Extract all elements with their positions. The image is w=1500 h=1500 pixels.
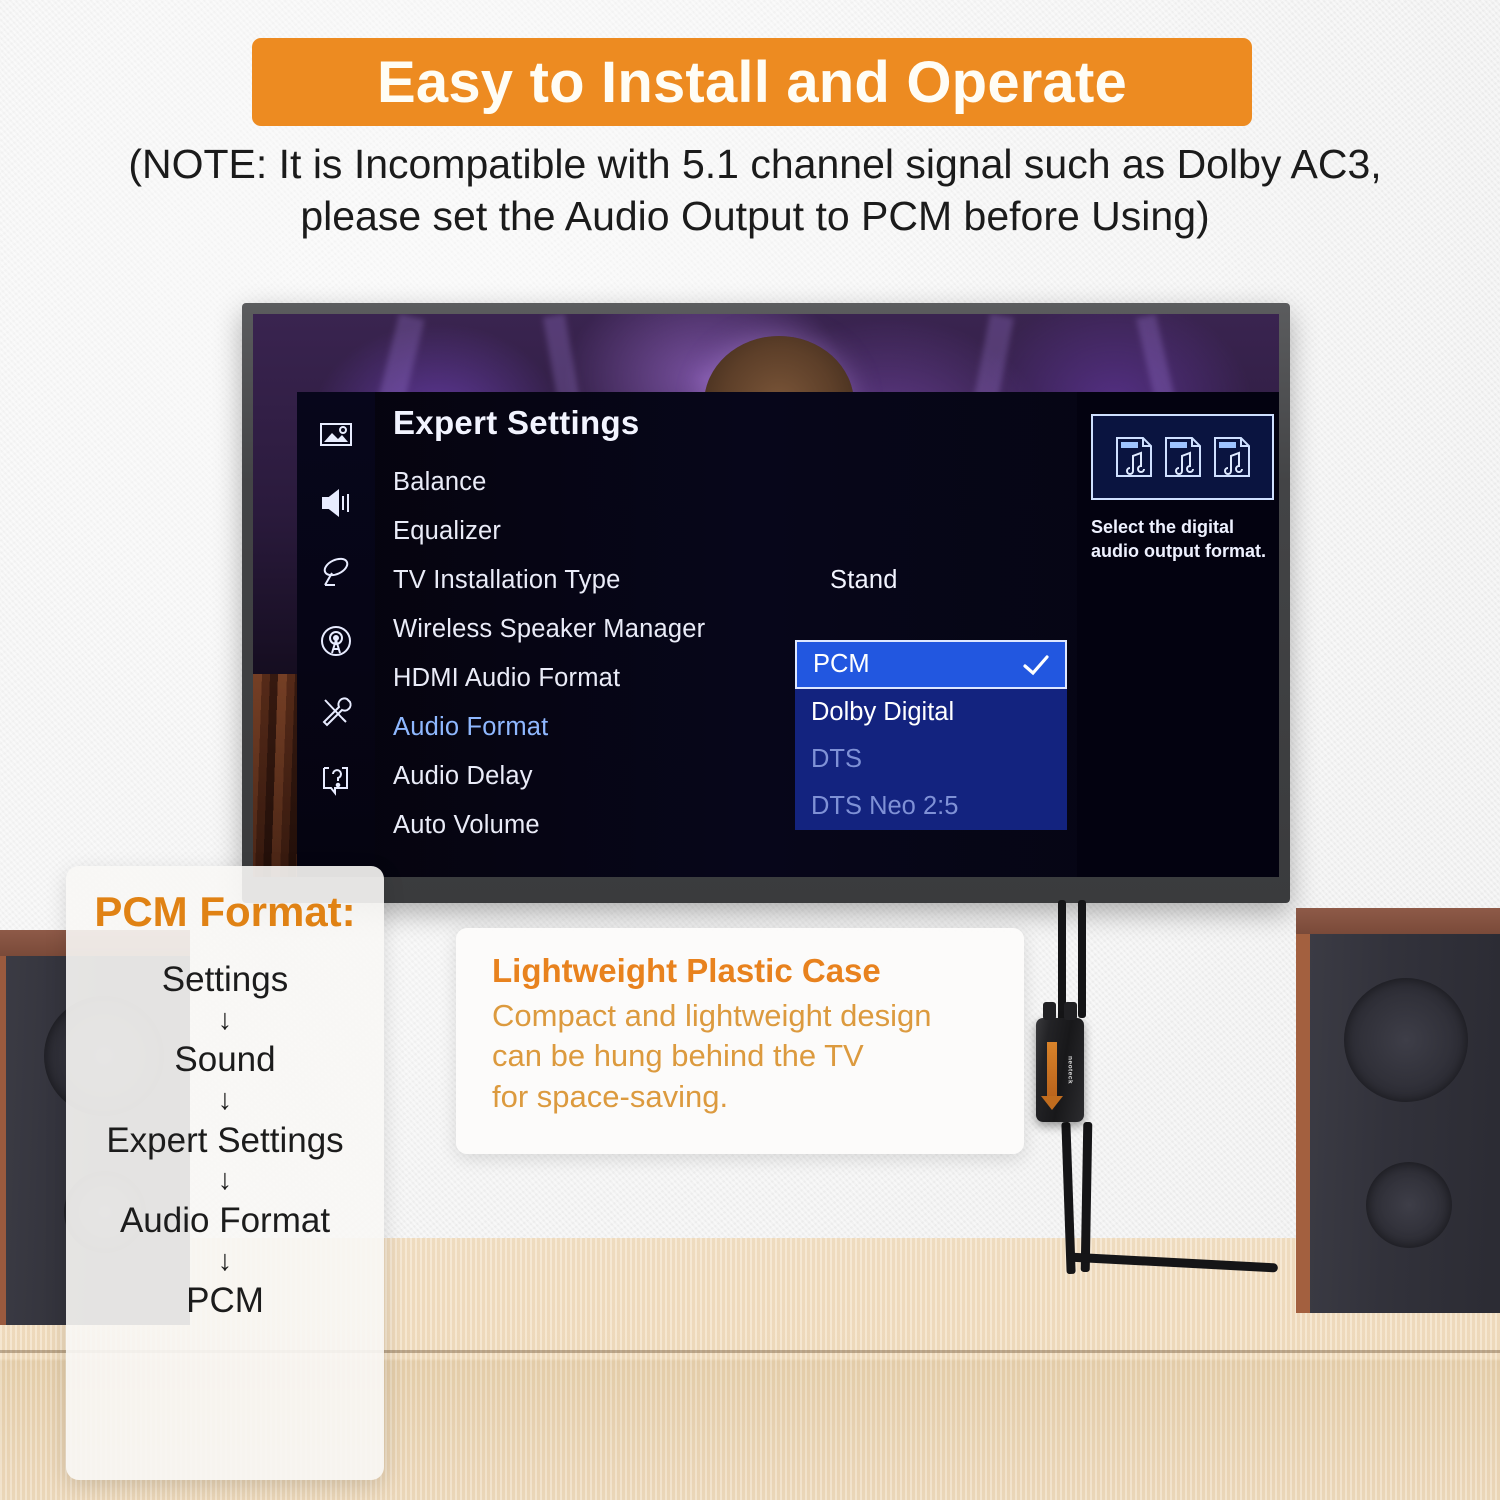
right-speaker-grille	[1296, 934, 1500, 1313]
adapter-plug-left	[1043, 1002, 1056, 1020]
broadcast-icon[interactable]	[318, 554, 354, 590]
pcm-step-expert-settings: Expert Settings	[66, 1123, 384, 1160]
row-label: Audio Format	[393, 713, 548, 742]
header-banner: Easy to Install and Operate	[252, 38, 1252, 126]
dropdown-option-pcm[interactable]: PCM	[795, 640, 1067, 689]
right-speaker-top	[1296, 908, 1500, 934]
note-text: (NOTE: It is Incompatible with 5.1 chann…	[40, 138, 1470, 243]
option-label: DTS	[811, 745, 862, 774]
adapter-plug-right	[1064, 1002, 1077, 1020]
expert-settings-menu: Expert Settings Balance Equalizer TV Ins…	[297, 392, 1243, 877]
row-label: Auto Volume	[393, 811, 540, 840]
info-panel: Select the digital audio output format.	[1077, 392, 1279, 877]
dropdown-option-dts: DTS	[795, 736, 1067, 783]
music-file-icon	[1211, 434, 1253, 480]
right-speaker	[1296, 908, 1500, 1313]
pcm-step-pcm: PCM	[66, 1283, 384, 1320]
general-icon[interactable]	[318, 692, 354, 728]
callout-line-2: can be hung behind the TV	[492, 1036, 994, 1076]
row-label: Balance	[393, 468, 487, 497]
info-description-line-2: audio output format.	[1091, 540, 1275, 564]
speaker-driver	[1344, 978, 1468, 1102]
option-label: PCM	[813, 650, 870, 679]
callout-body: Compact and lightweight design can be hu…	[492, 996, 994, 1117]
adapter-brand-label: neoteck	[1067, 1056, 1074, 1084]
info-description-line-1: Select the digital	[1091, 516, 1275, 540]
row-label: Wireless Speaker Manager	[393, 615, 705, 644]
down-arrow-icon: ↓	[66, 1079, 384, 1123]
audio-file-icons-box	[1091, 414, 1274, 500]
tv-screen: Expert Settings Balance Equalizer TV Ins…	[253, 314, 1279, 877]
optical-cable	[1078, 900, 1086, 1018]
note-line-1: (NOTE: It is Incompatible with 5.1 chann…	[40, 138, 1470, 190]
row-label: HDMI Audio Format	[393, 664, 620, 693]
pcm-step-sound: Sound	[66, 1042, 384, 1079]
audio-adapter-device: neoteck	[1036, 1018, 1084, 1122]
row-label: Equalizer	[393, 517, 501, 546]
info-description: Select the digital audio output format.	[1091, 516, 1275, 564]
audio-format-dropdown[interactable]: PCM Dolby Digital DTS DTS	[795, 640, 1067, 830]
check-icon	[1021, 654, 1051, 676]
adapter-direction-arrow	[1047, 1042, 1057, 1098]
picture-icon[interactable]	[318, 416, 354, 452]
banner-title: Easy to Install and Operate	[377, 49, 1127, 116]
callout-title: Lightweight Plastic Case	[492, 952, 994, 990]
pcm-step-audio-format: Audio Format	[66, 1203, 384, 1240]
pcm-card-title: PCM Format:	[66, 888, 384, 936]
row-value: Stand	[830, 566, 898, 595]
down-arrow-icon: ↓	[66, 1240, 384, 1284]
callout-line-3: for space-saving.	[492, 1077, 994, 1117]
callout-line-1: Compact and lightweight design	[492, 996, 994, 1036]
option-label: DTS Neo 2:5	[811, 792, 958, 821]
pcm-flow-steps: Settings ↓ Sound ↓ Expert Settings ↓ Aud…	[66, 962, 384, 1320]
sound-icon[interactable]	[318, 485, 354, 521]
down-arrow-icon: ↓	[66, 1159, 384, 1203]
music-file-icon	[1113, 434, 1155, 480]
settings-sidebar	[297, 392, 375, 877]
option-label: Dolby Digital	[811, 698, 954, 727]
television: Expert Settings Balance Equalizer TV Ins…	[242, 303, 1290, 903]
speaker-driver	[1366, 1162, 1452, 1248]
down-arrow-icon: ↓	[66, 999, 384, 1043]
pcm-step-settings: Settings	[66, 962, 384, 999]
row-label: Audio Delay	[393, 762, 533, 791]
settings-content: Expert Settings Balance Equalizer TV Ins…	[375, 392, 1243, 877]
network-icon[interactable]	[318, 623, 354, 659]
pcm-format-card: PCM Format: Settings ↓ Sound ↓ Expert Se…	[66, 866, 384, 1480]
lightweight-case-callout: Lightweight Plastic Case Compact and lig…	[456, 928, 1024, 1154]
row-label: TV Installation Type	[393, 566, 621, 595]
support-icon[interactable]	[318, 761, 354, 797]
dropdown-option-dts-neo: DTS Neo 2:5	[795, 783, 1067, 830]
note-line-2: please set the Audio Output to PCM befor…	[40, 190, 1470, 242]
dropdown-option-dolby-digital[interactable]: Dolby Digital	[795, 689, 1067, 736]
music-file-icon	[1162, 434, 1204, 480]
